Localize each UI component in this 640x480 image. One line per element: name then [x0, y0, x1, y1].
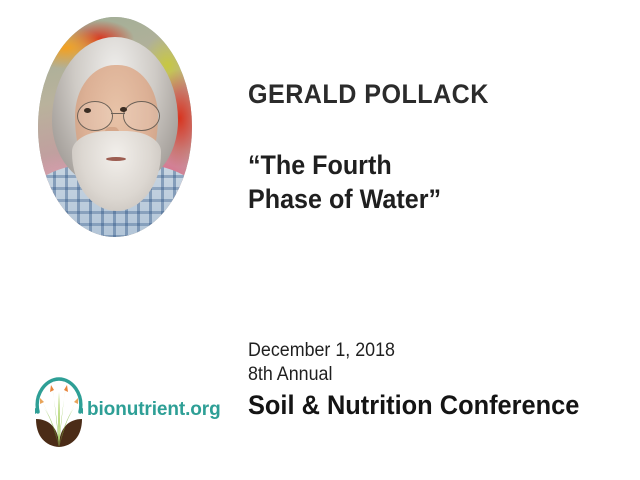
speaker-portrait — [38, 17, 192, 237]
event-name: Soil & Nutrition Conference — [248, 389, 579, 422]
eyeglass-lens-left — [77, 101, 114, 132]
portrait-mouth — [106, 157, 126, 161]
bionutrient-wordmark: bionutrient.org — [87, 399, 221, 421]
event-details: December 1, 2018 8th Annual Soil & Nutri… — [248, 339, 579, 422]
talk-title: “The Fourth Phase of Water” — [248, 148, 441, 216]
event-edition: 8th Annual — [248, 363, 579, 387]
talk-title-line-1: “The Fourth — [248, 148, 441, 182]
talk-title-line-2: Phase of Water” — [248, 182, 441, 216]
event-date: December 1, 2018 — [248, 339, 579, 363]
speaker-name: GERALD POLLACK — [248, 79, 489, 110]
portrait-eye-right — [120, 107, 127, 112]
portrait-eyeglasses-icon — [77, 101, 160, 130]
sprouting-seed-logo-icon — [30, 368, 88, 452]
eyeglass-lens-right — [123, 101, 160, 132]
eyeglass-bridge — [111, 113, 124, 115]
bionutrient-logo-lockup[interactable]: bionutrient.org — [30, 368, 230, 452]
presentation-slide: GERALD POLLACK “The Fourth Phase of Wate… — [0, 0, 640, 480]
